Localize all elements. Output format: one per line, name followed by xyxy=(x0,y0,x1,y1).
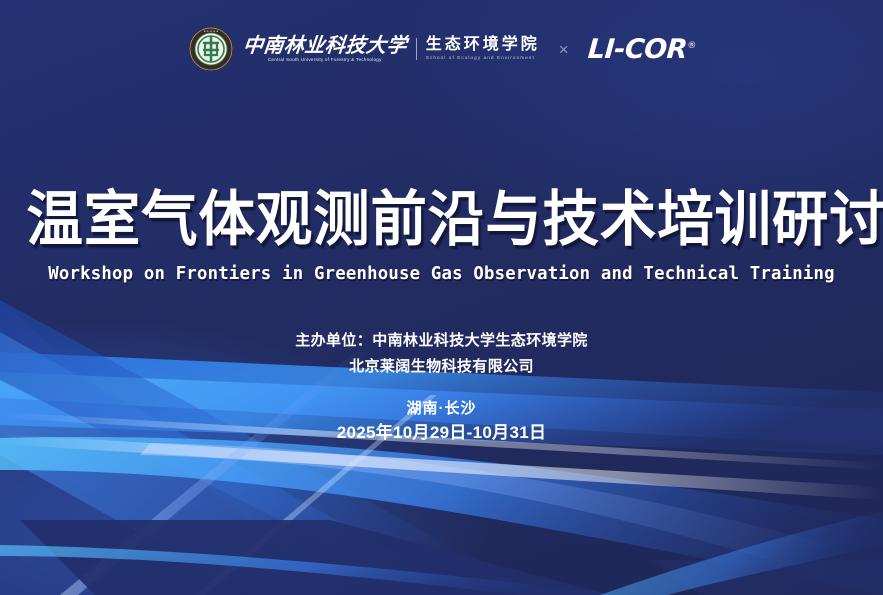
university-name-block: 中南林业科技大学 Central South University of For… xyxy=(243,36,540,63)
venue-block: 湖南·长沙 2025年10月29日-10月31日 xyxy=(0,398,883,446)
headline-block: 温室气体观测前沿与技术培训研讨会 Workshop on Frontiers i… xyxy=(0,190,883,284)
organisers-block: 主办单位：中南林业科技大学生态环境学院 北京莱阔生物科技有限公司 xyxy=(0,328,883,380)
university-name-en: Central South University of Forestry & T… xyxy=(243,58,407,63)
logo-lockup: ★ ★ ★ ★ ★ 中南林业科技大学 Central South Univers… xyxy=(0,26,883,72)
school-name-cn: 生态环境学院 xyxy=(426,37,540,53)
university-logo: ★ ★ ★ ★ ★ 中南林业科技大学 Central South Univers… xyxy=(188,26,540,72)
school-name-en: School of Ecology and Environment xyxy=(426,56,540,61)
organiser-line-secondary: 北京莱阔生物科技有限公司 xyxy=(0,354,883,380)
venue-date: 2025年10月29日-10月31日 xyxy=(0,420,883,446)
page-subtitle: Workshop on Frontiers in Greenhouse Gas … xyxy=(4,266,878,284)
lockup-divider xyxy=(416,38,417,61)
university-name-cn: 中南林业科技大学 xyxy=(242,36,408,56)
organiser-line-primary: 主办单位：中南林业科技大学生态环境学院 xyxy=(0,328,883,354)
registered-trademark-icon: ® xyxy=(687,41,696,51)
svg-text:★ ★ ★ ★ ★: ★ ★ ★ ★ ★ xyxy=(203,30,219,33)
venue-location: 湖南·长沙 xyxy=(0,398,883,420)
licor-logo: LI-COR® xyxy=(587,36,696,63)
conference-banner: ★ ★ ★ ★ ★ 中南林业科技大学 Central South Univers… xyxy=(0,0,883,595)
partnership-times-icon: × xyxy=(556,41,572,58)
page-title: 温室气体观测前沿与技术培训研讨会 xyxy=(26,190,856,250)
university-seal-icon: ★ ★ ★ ★ ★ xyxy=(188,26,234,72)
background-ribbon-artwork xyxy=(0,0,883,595)
licor-wordmark: LI-COR xyxy=(587,34,688,65)
